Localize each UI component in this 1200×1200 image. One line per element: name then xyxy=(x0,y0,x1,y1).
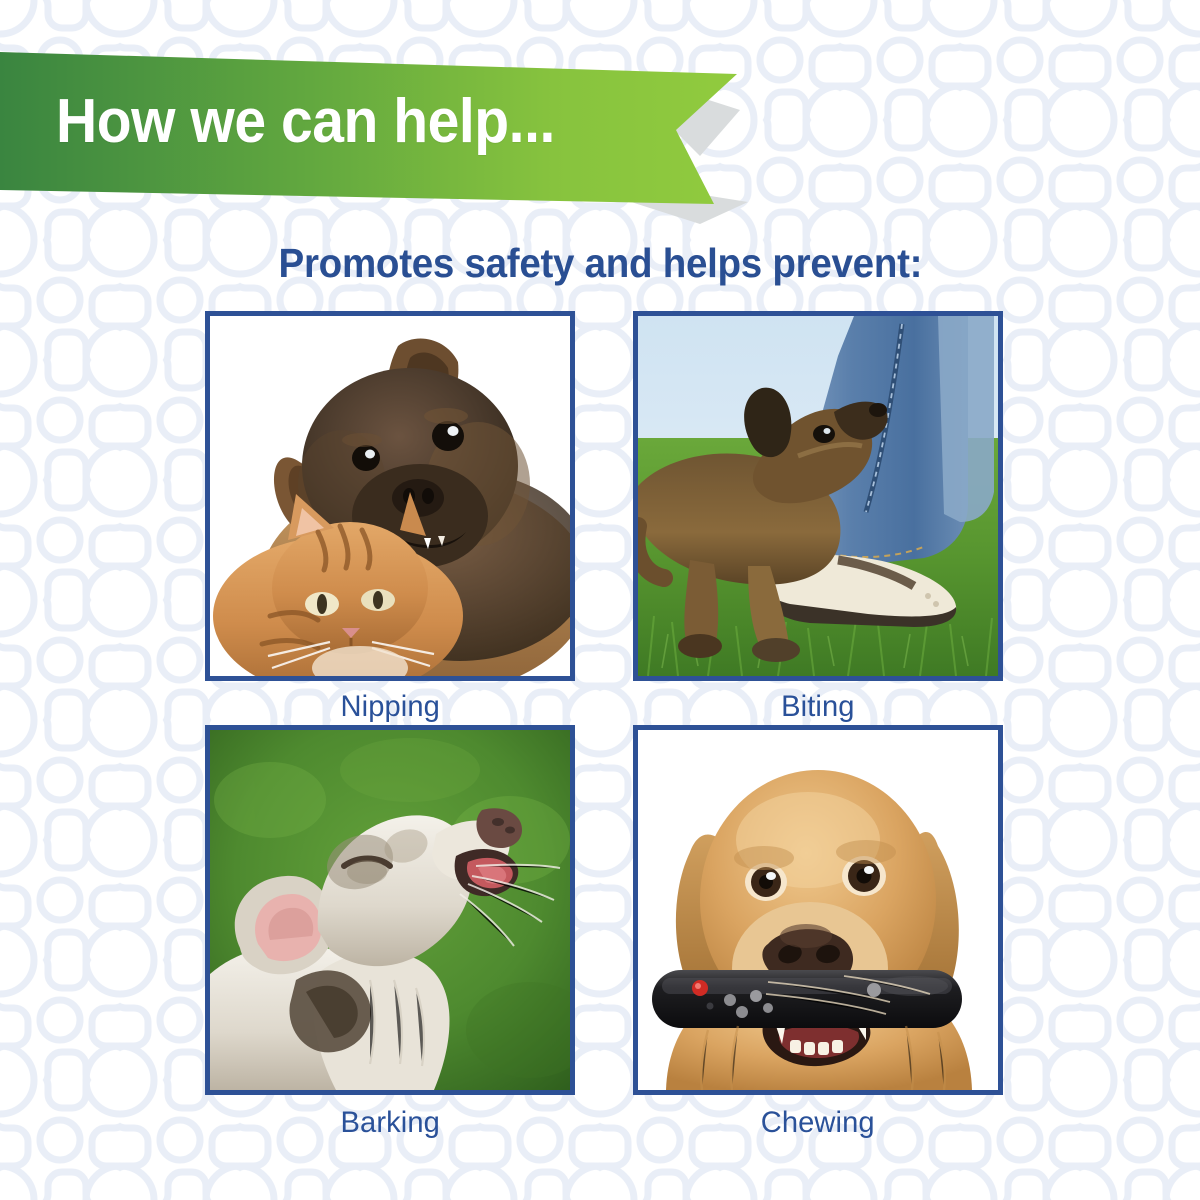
benefit-cards-grid: Nipping xyxy=(205,311,1005,1139)
caption-text: Chewing xyxy=(761,1106,875,1139)
puppy-nipping-kitten-photo xyxy=(210,316,570,676)
caption-text: Nipping xyxy=(340,690,439,723)
puppy-biting-pant-leg-photo xyxy=(638,316,998,676)
card-caption-barking: Barking xyxy=(205,1106,575,1139)
retriever-chewing-remote-photo xyxy=(638,730,998,1090)
caption-text: Barking xyxy=(340,1106,439,1139)
card-nipping: Nipping xyxy=(205,311,575,723)
card-caption-nipping: Nipping xyxy=(205,690,575,723)
banner-title: How we can help... xyxy=(56,52,555,190)
section-heading: Promotes safety and helps prevent: xyxy=(0,240,1200,287)
infographic-page: How we can help... Promotes safety and h… xyxy=(0,0,1200,1200)
photo-frame-chewing xyxy=(633,725,1003,1095)
card-caption-biting: Biting xyxy=(633,690,1003,723)
chihuahua-barking-photo xyxy=(210,730,570,1090)
card-biting: Biting xyxy=(633,311,1003,723)
photo-frame-nipping xyxy=(205,311,575,681)
caption-text: Biting xyxy=(781,690,854,723)
photo-frame-barking xyxy=(205,725,575,1095)
header-ribbon-banner: How we can help... xyxy=(0,52,760,192)
card-barking: Barking xyxy=(205,725,575,1139)
card-chewing: Chewing xyxy=(633,725,1003,1139)
photo-frame-biting xyxy=(633,311,1003,681)
card-caption-chewing: Chewing xyxy=(633,1106,1003,1139)
section-heading-text: Promotes safety and helps prevent: xyxy=(278,240,922,287)
